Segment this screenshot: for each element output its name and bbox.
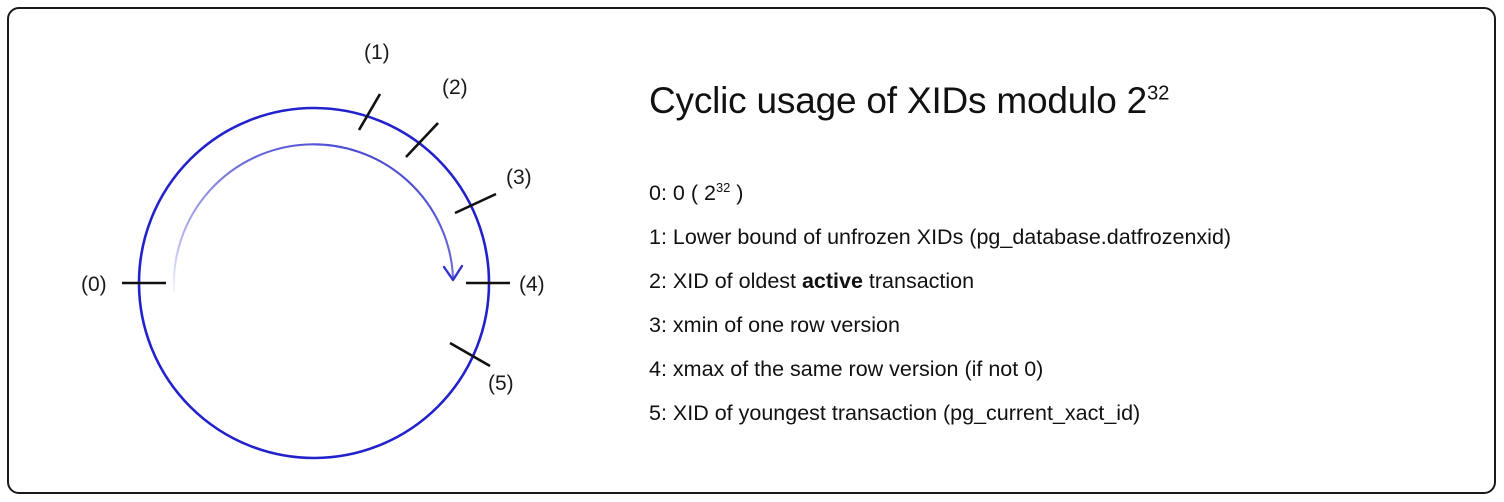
- page-title-text: Cyclic usage of XIDs modulo 2: [649, 80, 1147, 121]
- cycle-label-3: (3): [506, 166, 532, 189]
- xid-cycle-diagram: (0) (1) (2) (3) (4) (5): [29, 19, 629, 499]
- legend-item-1-text: 1: Lower bound of unfrozen XIDs (pg_data…: [649, 225, 1231, 249]
- legend-item-3: 3: xmin of one row version: [649, 315, 1469, 359]
- legend-item-3-text: 3: xmin of one row version: [649, 313, 900, 337]
- slide-frame: (0) (1) (2) (3) (4) (5) Cyclic usage of …: [7, 7, 1496, 494]
- legend-item-4-text: 4: xmax of the same row version (if not …: [649, 357, 1043, 381]
- tick-mark-2: [406, 123, 438, 157]
- cycle-circle: [139, 108, 489, 458]
- page-title-exponent: 32: [1147, 83, 1169, 105]
- direction-arrow-arc: [174, 144, 453, 291]
- legend-list: 0: 0 ( 232 ) 1: Lower bound of unfrozen …: [649, 183, 1469, 447]
- legend-item-4: 4: xmax of the same row version (if not …: [649, 359, 1469, 403]
- legend-item-2: 2: XID of oldest active transaction: [649, 271, 1469, 315]
- legend-item-0-text-a: 0: 0 ( 2: [649, 181, 716, 205]
- cycle-label-1: (1): [364, 41, 390, 64]
- legend-item-2-text-a: 2: XID of oldest: [649, 269, 802, 293]
- cycle-label-2: (2): [442, 76, 468, 99]
- legend-item-2-emphasis: active: [802, 269, 863, 293]
- legend-item-5-text: 5: XID of youngest transaction (pg_curre…: [649, 401, 1140, 425]
- slide-root: (0) (1) (2) (3) (4) (5) Cyclic usage of …: [0, 0, 1504, 502]
- tick-mark-1: [359, 94, 380, 130]
- legend-item-1: 1: Lower bound of unfrozen XIDs (pg_data…: [649, 227, 1469, 271]
- page-title: Cyclic usage of XIDs modulo 232: [649, 82, 1169, 119]
- cycle-label-0: (0): [81, 273, 107, 296]
- cycle-label-5: (5): [488, 372, 514, 395]
- text-column: Cyclic usage of XIDs modulo 232 0: 0 ( 2…: [649, 9, 1489, 502]
- legend-item-0: 0: 0 ( 232 ): [649, 183, 1469, 227]
- tick-mark-3: [455, 194, 496, 213]
- legend-item-0-text-b: ): [730, 181, 743, 205]
- legend-item-0-exponent: 32: [716, 180, 730, 195]
- legend-item-5: 5: XID of youngest transaction (pg_curre…: [649, 403, 1469, 447]
- legend-item-2-text-b: transaction: [863, 269, 974, 293]
- cycle-label-4: (4): [519, 273, 545, 296]
